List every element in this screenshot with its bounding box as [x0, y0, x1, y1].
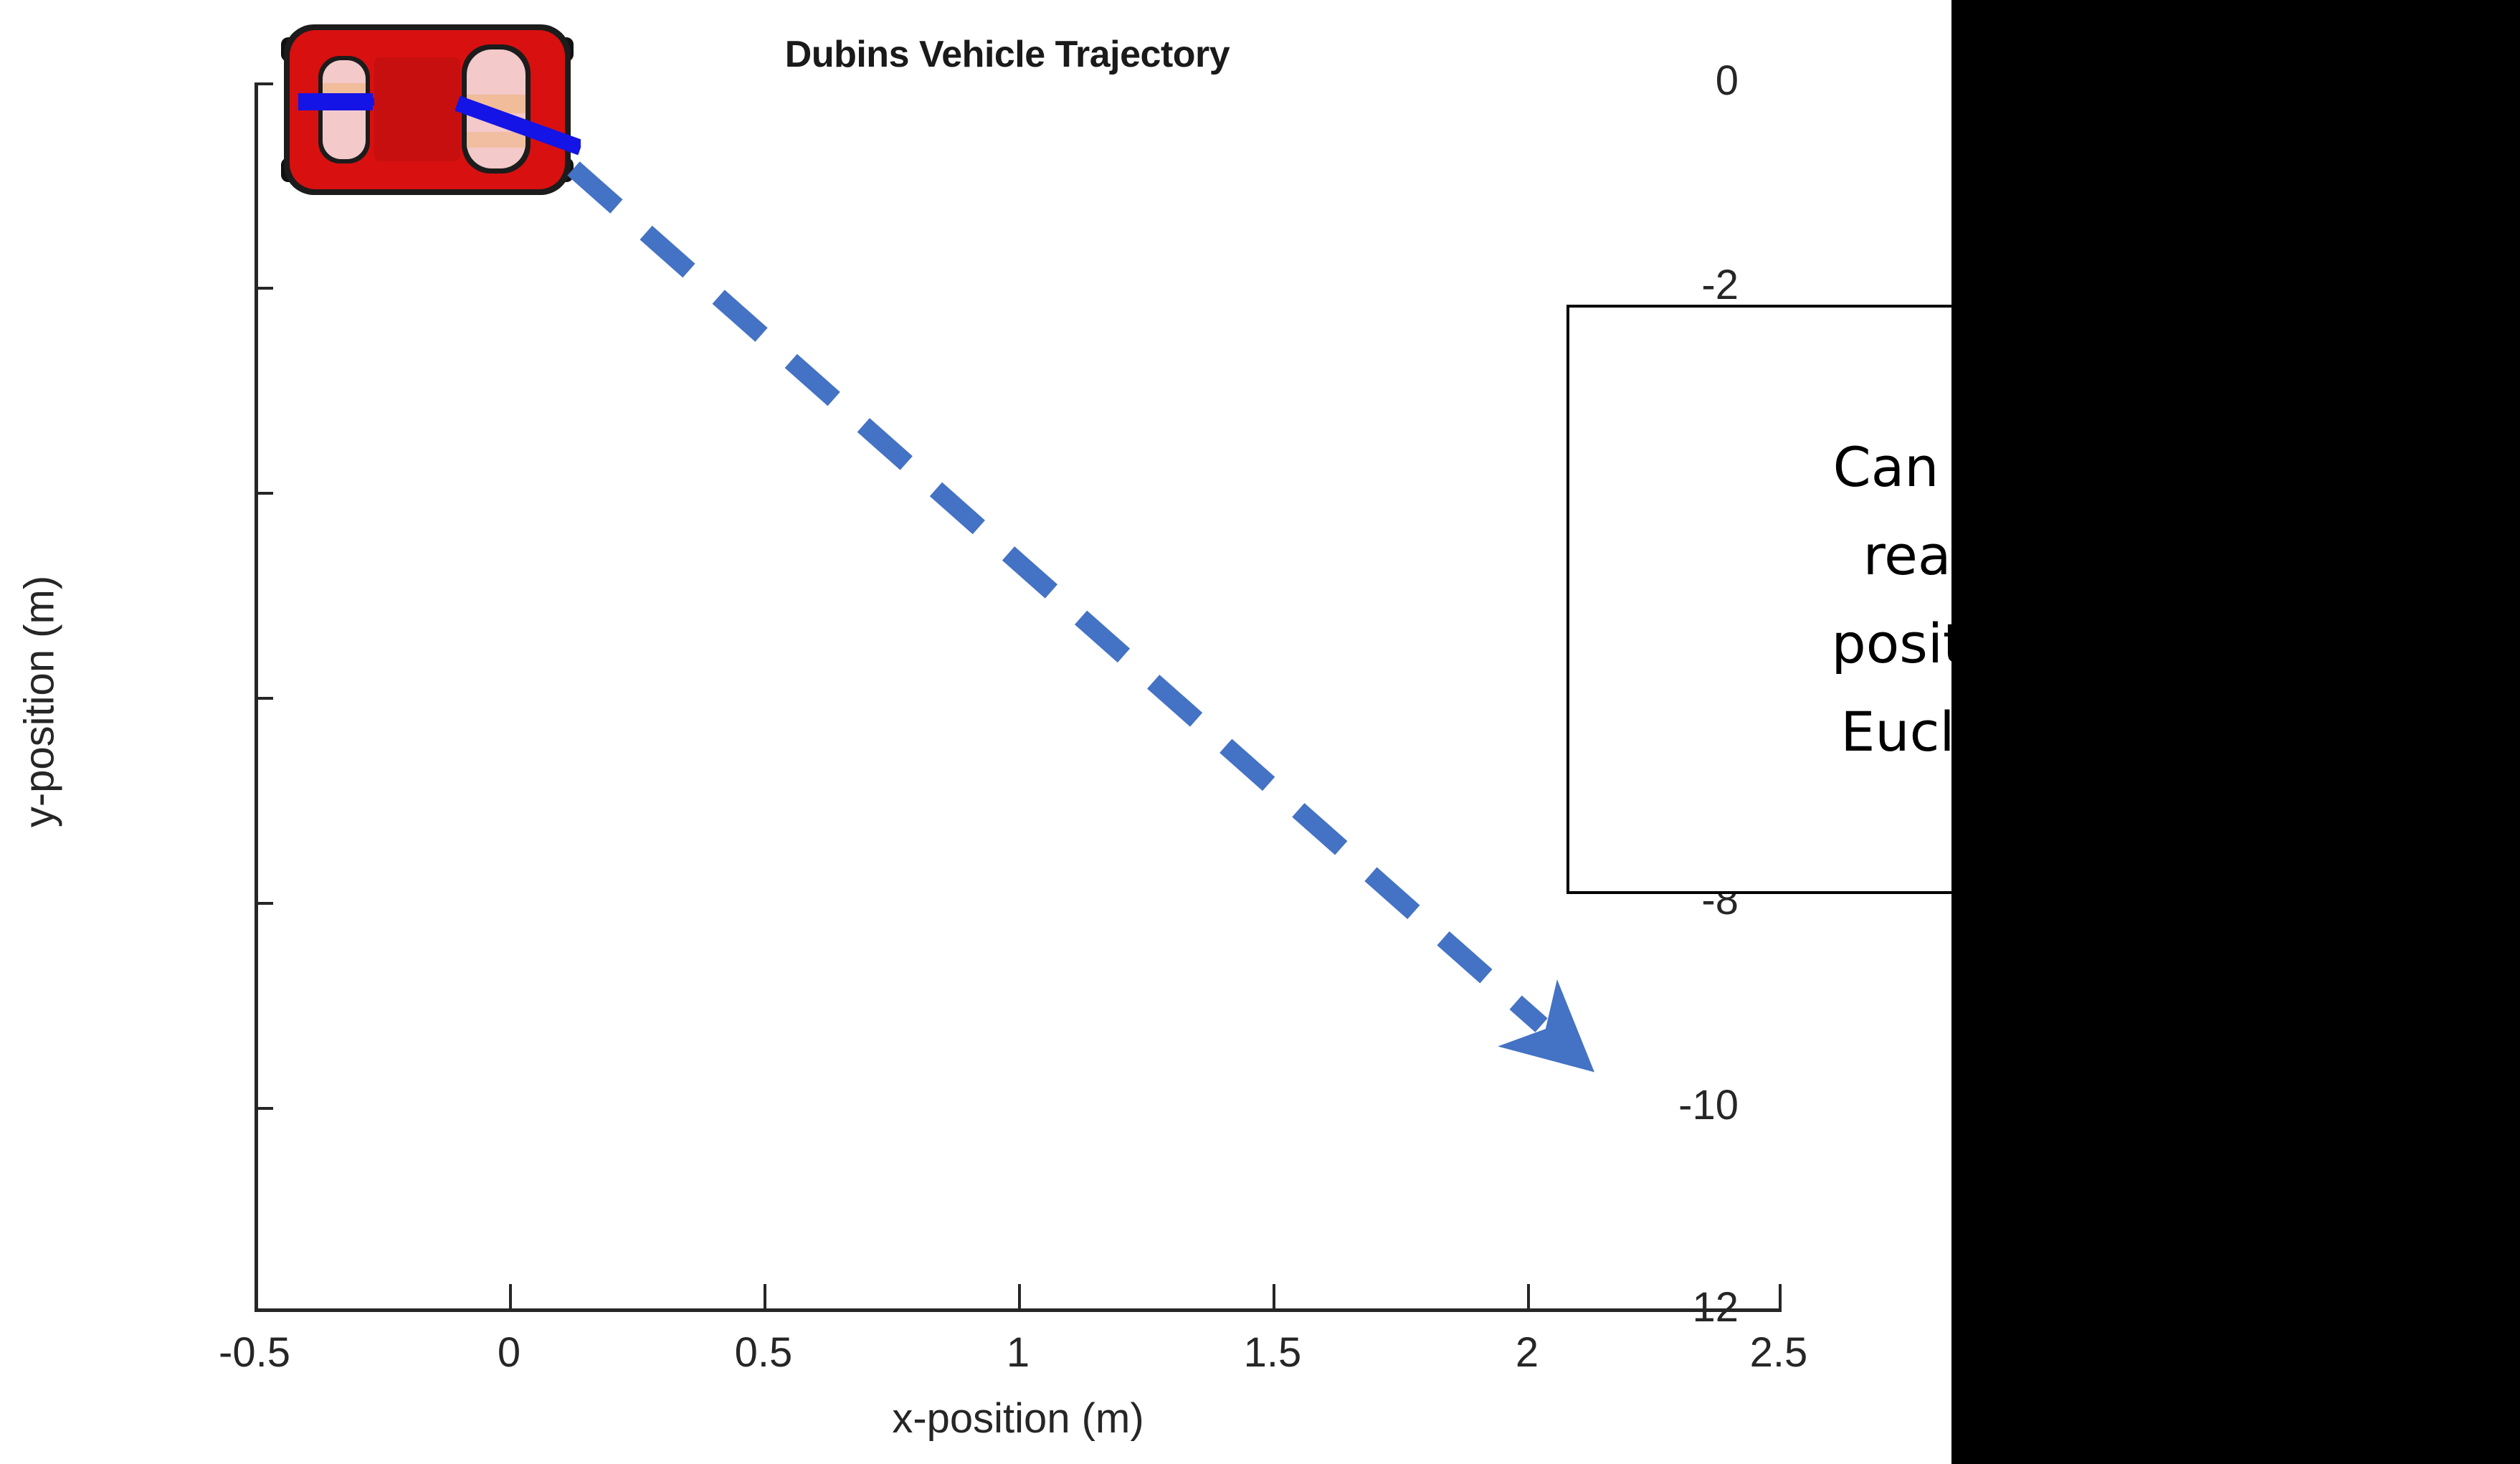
y-tick-0: [255, 82, 273, 85]
y-tick-label-0: 0: [1716, 57, 1739, 105]
x-tick-label-5: 2: [1427, 1328, 1627, 1377]
x-tick-label-1: 0: [409, 1328, 609, 1377]
figure-canvas: Dubins Vehicle Trajectory 0 -2 -4 -6 -8 …: [0, 0, 2520, 1464]
black-overlay-region: [1951, 0, 2520, 1464]
x-axis-label: x-position (m): [255, 1394, 1782, 1442]
x-tick-5: [1527, 1284, 1530, 1308]
x-tick-0: [255, 1284, 257, 1308]
y-tick-label-5: -10: [1678, 1081, 1739, 1129]
y-tick-label-1: -2: [1701, 261, 1739, 309]
x-tick-label-0: -0.5: [154, 1328, 355, 1377]
y-axis-label: y-position (m): [16, 379, 64, 1025]
y-tick-label-6: -12: [1678, 1283, 1739, 1331]
x-tick-4: [1273, 1284, 1275, 1308]
y-tick-6: [255, 1309, 273, 1312]
x-tick-label-6: 2.5: [1678, 1328, 1879, 1377]
y-tick-4: [255, 902, 273, 905]
page-title: Dubins Vehicle Trajectory: [699, 33, 1316, 76]
x-tick-6: [1779, 1284, 1782, 1308]
x-tick-label-3: 1: [918, 1328, 1118, 1377]
y-tick-1: [255, 287, 273, 290]
x-tick-2: [764, 1284, 766, 1308]
y-tick-2: [255, 492, 273, 495]
x-tick-1: [509, 1284, 512, 1308]
dubins-vehicle-icon: [274, 14, 581, 204]
y-tick-5: [255, 1107, 273, 1110]
plot-axes: 0 -2 -4 -6 -8 -10 -12 -0.5 0 0.5 1 1.5 2…: [255, 82, 1782, 1312]
x-tick-label-2: 0.5: [663, 1328, 864, 1377]
y-tick-3: [255, 697, 273, 700]
x-axis-line: [255, 1308, 1782, 1312]
x-tick-label-4: 1.5: [1172, 1328, 1373, 1377]
x-tick-3: [1018, 1284, 1021, 1308]
